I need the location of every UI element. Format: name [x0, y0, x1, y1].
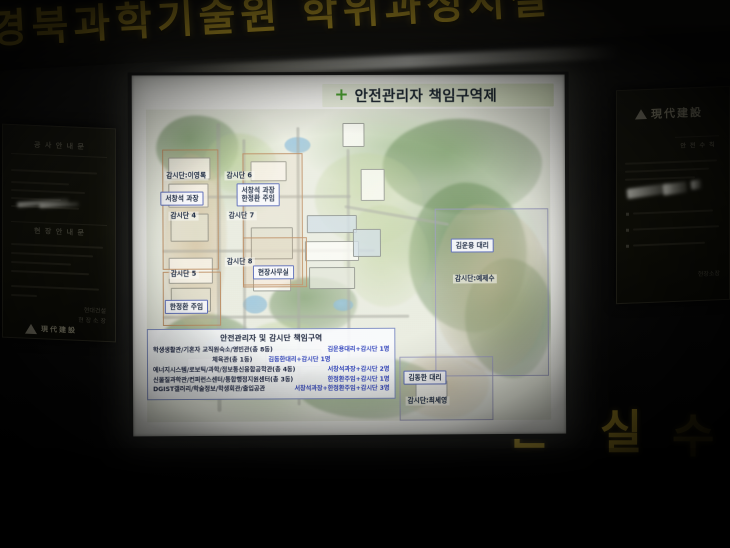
left-board-textline: [11, 252, 93, 257]
triangle-logo-icon: [25, 324, 37, 335]
map-label-gamsidan-6: 감시단 6: [224, 171, 254, 180]
right-board-bullet: [626, 229, 629, 232]
legend-assignment: 김동한대리+감시단 1명: [262, 355, 330, 365]
triangle-logo-icon: [635, 109, 647, 119]
responsibility-zone: [435, 208, 549, 376]
right-board-textline: [633, 225, 719, 230]
room-floor: [0, 448, 730, 548]
left-board-textline: [11, 261, 71, 266]
map-label-gamsidan-4: 감시단 4: [168, 212, 198, 221]
left-board-signature-1: 현대건설: [84, 306, 106, 316]
right-board-logo: 現代建設: [635, 104, 703, 123]
building: [305, 241, 359, 261]
right-board-glare: [662, 181, 687, 195]
notice-board-right: 現代建設 안 전 수 칙 현장소장: [616, 86, 730, 304]
left-board-signature-2: 현 장 소 장: [78, 316, 106, 326]
map-label-kim-donghan: 김동한 대리: [403, 370, 446, 384]
building: [342, 123, 364, 147]
right-board-textline: [625, 168, 709, 173]
left-board-textline: [11, 189, 85, 194]
left-board-rule-1: [11, 153, 107, 158]
left-board-title-2: 현 장 안 내 문: [10, 225, 109, 239]
right-board-title: 안 전 수 칙: [673, 139, 723, 150]
building: [353, 229, 381, 257]
right-board-textline: [633, 242, 705, 247]
legend-assignment: 서창석과장+감시단 2명: [322, 364, 390, 374]
photo-scene: 경북과학기술원 학위과정시설 은 실 수 공 사 안 내 문 현 장 안 내 문…: [0, 0, 730, 548]
right-board-bullet: [626, 245, 629, 248]
building: [309, 267, 355, 289]
left-board-textline: [11, 181, 69, 185]
left-board-title-1: 공 사 안 내 문: [10, 139, 109, 153]
left-board-textline: [11, 243, 103, 249]
legend-row: 학생생활관/기혼자 교직원숙소/영빈관(총 8동) 김운용대리+감시단 1명: [153, 345, 389, 356]
right-board-signature: 현장소장: [698, 269, 720, 279]
legend-assignment: 서창석과장+한정환주임+감시단 3명: [288, 384, 389, 394]
notice-board-left: 공 사 안 내 문 현 장 안 내 문 현대건설 현 장 소 장 現代建設: [2, 124, 116, 343]
map-label-gamsidan-7: 감시단 7: [227, 211, 257, 220]
map-label-gamsidan-5: 감시단 5: [169, 270, 199, 279]
legend-zone: DGIST갤러리/학술정보/학생회관/출입공관: [153, 385, 265, 396]
right-board-textline: [625, 159, 717, 165]
left-board-textline: [11, 285, 99, 291]
map-label-gamsidan-lee: 감시단:이영록: [164, 171, 208, 180]
map-label-gamsidan-choi: 감시단:최세영: [406, 396, 450, 405]
plus-bullet-icon: +: [334, 87, 348, 104]
slide-title-bar: + 안전관리자 책임구역제: [322, 84, 554, 108]
right-board-bullet: [626, 213, 629, 216]
responsibility-zone: [399, 356, 493, 420]
left-board-textline: [11, 169, 97, 175]
left-board-textline: [11, 294, 37, 297]
map-label-site-office: 현장사무실: [253, 265, 294, 279]
right-board-textline: [625, 176, 695, 181]
slide-title: 안전관리자 책임구역제: [355, 85, 498, 106]
map-label-seo-han-pair: 서창석 과장 한정환 주임: [237, 183, 280, 206]
map-label-han-foreman: 한정환 주임: [165, 300, 208, 314]
legend-header: 안전관리자 및 감시단 책임구역: [153, 332, 389, 346]
pond: [243, 295, 267, 313]
right-board-logo-text: 現代建設: [651, 104, 703, 122]
presentation-slide: + 안전관리자 책임구역제 현재 감시단 운영인원 : 3명→ 피크 시 최대 …: [132, 75, 567, 437]
right-board-glare: [691, 179, 702, 189]
map-label-gamsidan-8: 감시단 8: [225, 257, 255, 266]
left-board-logo: 現代建設: [25, 324, 77, 336]
legend-row: DGIST갤러리/학술정보/학생회관/출입공관 서창석과장+한정환주임+감시단 …: [153, 384, 389, 395]
map-label-kim-unyong: 김운용 대리: [451, 238, 494, 252]
building: [307, 215, 357, 233]
projection-screen: + 안전관리자 책임구역제 현재 감시단 운영인원 : 3명→ 피크 시 최대 …: [132, 75, 567, 437]
right-board-textline: [633, 209, 713, 214]
legend-assignment: 김운용대리+감시단 1명: [321, 345, 389, 355]
legend-zone: 학생생활관/기혼자 교직원숙소/영빈관(총 8동): [153, 345, 273, 356]
right-board-rule: [675, 135, 719, 138]
responsibility-zone: [162, 149, 219, 269]
legend-assignment: 한정환주임+감시단 1명: [322, 374, 390, 384]
legend-zone: 신물질과학관/컨퍼런스센터/통합행정지원센터(총 3동): [153, 375, 293, 386]
legend-zone: 체육관(총 1동): [212, 355, 252, 365]
map-label-seo-chief-left: 서창석 과장: [160, 192, 203, 206]
legend-box: 안전관리자 및 감시단 책임구역 학생생활관/기혼자 교직원숙소/영빈관(총 8…: [147, 328, 396, 401]
map-label-gamsidan-ye: 감시단:예제수: [453, 274, 497, 283]
left-board-logo-text: 現代建設: [41, 324, 77, 336]
left-board-textline: [11, 270, 89, 275]
building: [361, 169, 385, 201]
